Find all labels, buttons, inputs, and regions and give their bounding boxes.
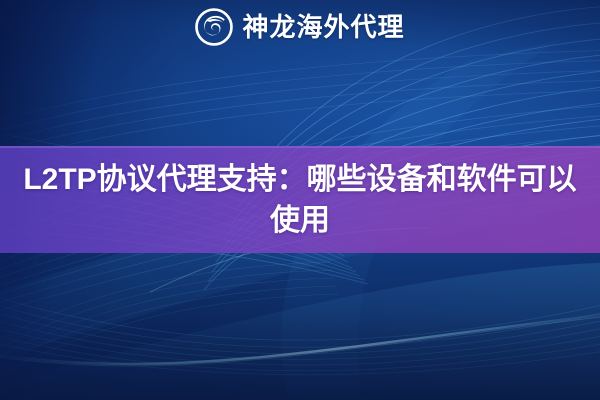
headline-title: L2TP协议代理支持：哪些设备和软件可以使用 [22, 159, 578, 241]
brand-lockup: 神龙海外代理 [0, 8, 600, 46]
promo-banner: 神龙海外代理 L2TP协议代理支持：哪些设备和软件可以使用 [0, 0, 600, 400]
brand-name: 神龙海外代理 [242, 8, 404, 46]
headline-container: L2TP协议代理支持：哪些设备和软件可以使用 [0, 150, 600, 250]
headline-band-top-edge [0, 146, 600, 148]
dragon-swirl-logo-icon [195, 8, 233, 46]
